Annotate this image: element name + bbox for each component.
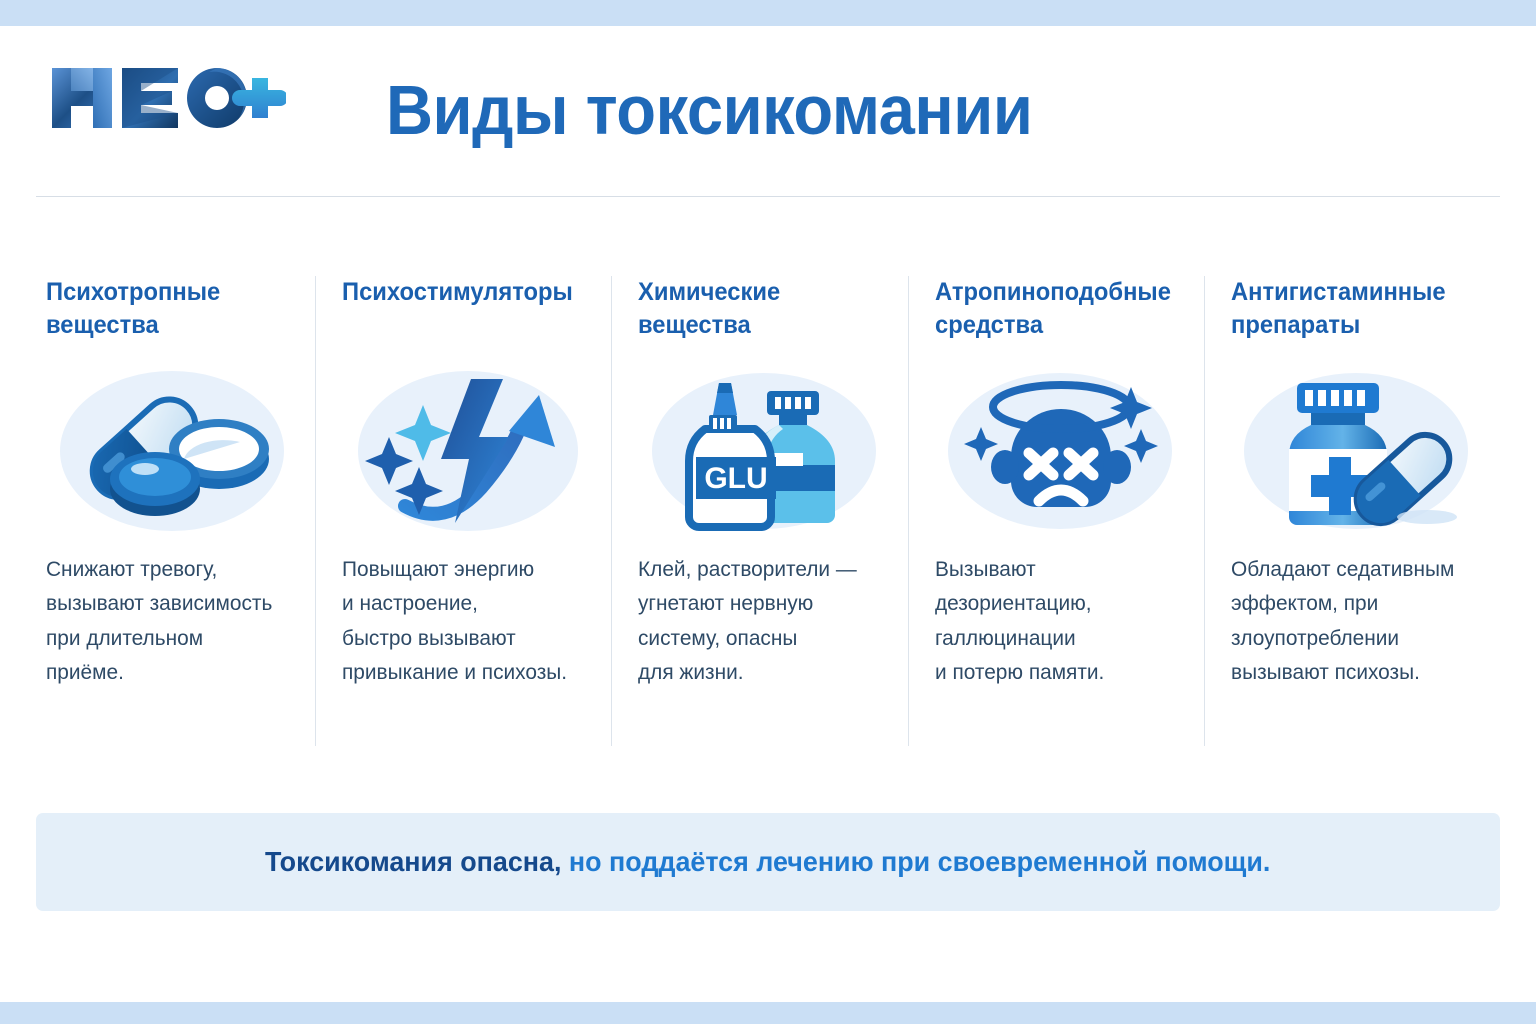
footer-message: Токсикомания опасна, но поддаётся лечени… (265, 846, 1270, 878)
category-title: Психостимуляторы (342, 276, 581, 350)
medicine-bottle-capsule-icon (1231, 356, 1482, 546)
dizzy-face-icon (935, 356, 1186, 546)
category-card-chemicals: Химические вещества (611, 276, 907, 746)
infographic-page: Виды токсикомании Психотропные вещества (0, 0, 1536, 1024)
category-card-stimulants: Психостимуляторы (315, 276, 611, 746)
category-title: Атропиноподобные средства (935, 276, 1174, 350)
pills-capsule-tablets-icon (46, 356, 297, 546)
category-title: Химические вещества (638, 276, 877, 350)
footer-banner: Токсикомания опасна, но поддаётся лечени… (36, 813, 1500, 911)
category-description: Обладают седативным эффектом, при злоупо… (1231, 552, 1475, 690)
top-decorative-band (0, 0, 1536, 26)
category-card-atropine: Атропиноподобные средства (908, 276, 1204, 746)
glue-bottle-solvent-icon: GLU (638, 356, 889, 546)
bottom-decorative-band (0, 1002, 1536, 1024)
header: Виды токсикомании (0, 26, 1536, 186)
category-description: Повыщают энергию и настроение, быстро вы… (342, 552, 586, 690)
category-card-antihistamine: Антигистаминные препараты (1204, 276, 1500, 746)
footer-message-rest: но поддаётся лечению при своевременной п… (562, 846, 1271, 877)
page-title: Виды токсикомании (386, 70, 1032, 150)
category-card-psychotropic: Психотропные вещества (36, 276, 315, 746)
glue-label: GLU (704, 462, 767, 495)
footer-message-strong: Токсикомания опасна, (265, 846, 561, 877)
header-divider (36, 196, 1500, 197)
category-description: Клей, растворители — угнетают нервную си… (638, 552, 882, 690)
lightning-bolt-arrow-up-sparkles-icon (342, 356, 593, 546)
category-title: Психотропные вещества (46, 276, 285, 350)
category-title: Антигистаминные препараты (1231, 276, 1470, 350)
categories-row: Психотропные вещества (36, 276, 1500, 746)
category-description: Вызывают дезориентацию, галлюцинации и п… (935, 552, 1179, 690)
category-description: Снижают тревогу, вызывают зависимость пр… (46, 552, 290, 690)
neo-plus-logo (46, 60, 286, 136)
